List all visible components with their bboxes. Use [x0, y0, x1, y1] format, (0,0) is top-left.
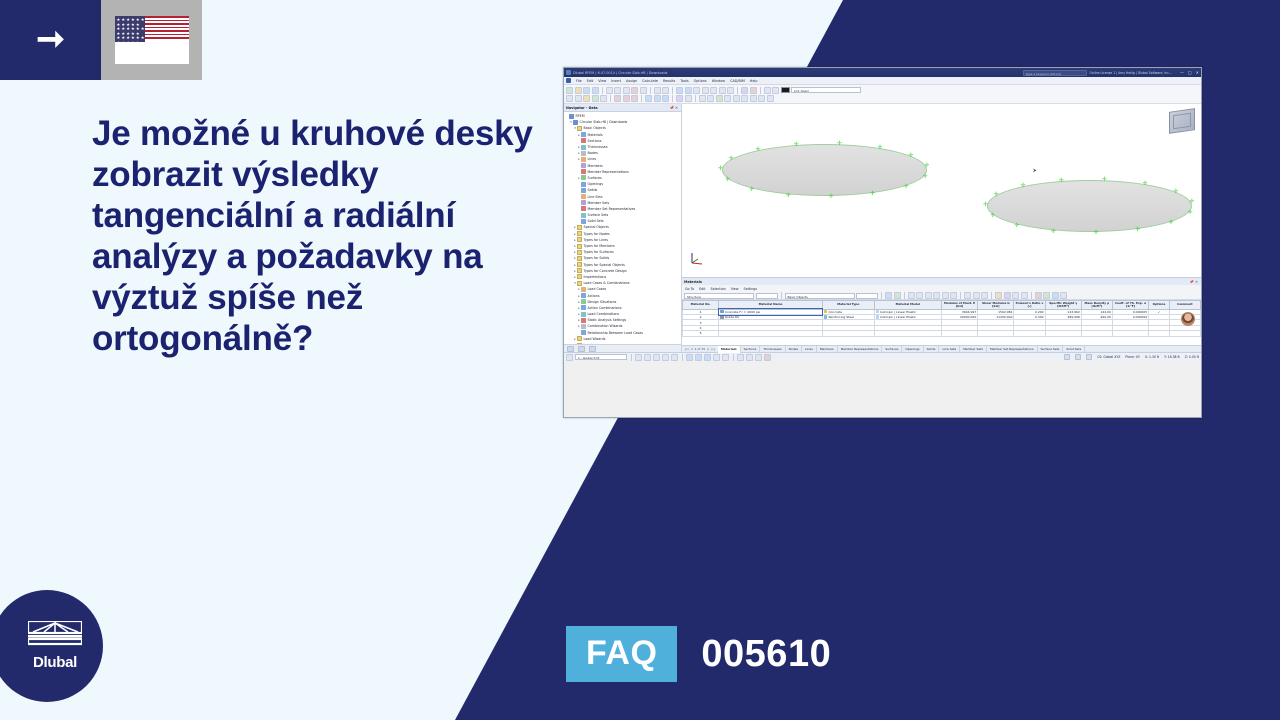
surface-load-icon[interactable]: [662, 95, 669, 102]
menu-item-calculate[interactable]: Calculate: [642, 79, 658, 83]
draw-polyline-icon[interactable]: [764, 354, 771, 361]
materials-column-header[interactable]: Specific Weight γ [lbf/ft³]: [1045, 301, 1081, 310]
tree-item-label: RFEM: [576, 114, 585, 118]
menu-item-cadbim[interactable]: CAD/BIM: [730, 79, 745, 83]
nodal-support-marker[interactable]: [1169, 220, 1174, 225]
materials-cell-comment[interactable]: [1169, 331, 1200, 336]
table-view-icon[interactable]: [908, 292, 915, 299]
nodal-support-marker[interactable]: [994, 192, 999, 197]
nodal-support-marker[interactable]: [1059, 178, 1064, 183]
object-tab-bar[interactable]: |◁ ◁ 1 of 15 ▷ ▷| MaterialsSectionsThick…: [682, 345, 1201, 352]
navigator-title: Navigator - Data: [566, 106, 598, 110]
materials-column-header[interactable]: Mass Density ρ [lb/ft³]: [1081, 301, 1112, 310]
tree-item-label: Types for Nodes: [584, 232, 610, 236]
nodal-support-marker[interactable]: [1021, 183, 1026, 188]
row-insert-icon[interactable]: [916, 292, 923, 299]
navigator-tab-views-icon[interactable]: [589, 346, 596, 352]
nodal-support-marker[interactable]: [1188, 210, 1193, 215]
nodal-support-marker[interactable]: [925, 163, 930, 168]
mp-menu-settings[interactable]: Settings: [744, 287, 758, 291]
tree-item-label: Action Combinations: [588, 306, 622, 310]
cell-text: 144.00: [1100, 310, 1111, 314]
navigator-pin-close-icons[interactable]: 📌✕: [670, 106, 680, 110]
line-load-icon[interactable]: [654, 95, 661, 102]
save-icon[interactable]: [583, 87, 590, 94]
materials-column-header[interactable]: Material No.: [683, 301, 719, 310]
render-mode-icon[interactable]: [685, 87, 692, 94]
tree-item-icon: [581, 330, 586, 335]
nodal-support-marker[interactable]: [870, 191, 875, 196]
navigator-tab-data-icon[interactable]: [567, 346, 574, 352]
filter-index-combo[interactable]: [756, 293, 778, 299]
table-pager[interactable]: |◁ ◁ 1 of 15 ▷ ▷|: [682, 347, 718, 351]
object-tab-nodes[interactable]: Nodes: [786, 346, 802, 353]
tree-item-icon: [577, 268, 582, 273]
status-x-value: X: 1.30 ft: [1145, 355, 1159, 359]
tree-item-label: Members: [588, 164, 603, 168]
tree-item-label: Solids: [588, 188, 598, 192]
minimize-button[interactable]: —: [1180, 70, 1184, 75]
zoom-window-icon[interactable]: [719, 87, 726, 94]
object-tab-materials[interactable]: Materials: [718, 346, 741, 353]
menu-item-options[interactable]: Options: [694, 79, 707, 83]
materials-cell-rho[interactable]: [1081, 331, 1112, 336]
tree-item-icon: [577, 256, 582, 261]
surface-tool-icon[interactable]: [592, 95, 599, 102]
materials-cell-type[interactable]: [822, 331, 874, 336]
materials-column-header[interactable]: Modulus of Elast. E [ksi]: [941, 301, 977, 310]
tree-item-label: Surfaces: [588, 176, 602, 180]
nodal-support-marker[interactable]: [1051, 229, 1056, 234]
print-preview-icon[interactable]: [606, 87, 613, 94]
status-cs-label: CS: Global XYZ: [1097, 355, 1120, 359]
object-tab-member-sets[interactable]: Member Sets: [960, 346, 987, 353]
draw-line-icon[interactable]: [737, 354, 744, 361]
layers-icon[interactable]: [733, 95, 740, 102]
materials-cell-options[interactable]: [1149, 331, 1170, 336]
check-model-icon[interactable]: [716, 95, 723, 102]
object-tab-openings[interactable]: Openings: [902, 346, 923, 353]
nodal-support-marker[interactable]: [837, 141, 842, 146]
view-toggle-3-icon[interactable]: [1086, 354, 1092, 360]
ucs-icon[interactable]: [750, 95, 757, 102]
cell-icon: [876, 310, 880, 314]
menu-item-window[interactable]: Window: [712, 79, 725, 83]
language-header-block: ➞ ★★★★★★★★★★★★★★★★★★★★★★★★★★★★★★★★★★★★★★…: [0, 0, 202, 80]
measure-icon[interactable]: [707, 95, 714, 102]
cell-text: 490.00: [1100, 315, 1111, 319]
materials-column-header[interactable]: Material Model: [874, 301, 941, 310]
cell-text: 11200.000: [996, 315, 1012, 319]
tree-item-label: Openings: [588, 182, 604, 186]
close-button[interactable]: ✕: [1196, 70, 1199, 75]
nodal-load-icon[interactable]: [645, 95, 652, 102]
tree-item-label: Surface Sets: [588, 213, 609, 217]
arrow-down-right-box: ➞: [0, 0, 101, 80]
print-icon[interactable]: [614, 87, 621, 94]
tree-item-icon: [581, 200, 586, 205]
nodal-support-marker[interactable]: [1135, 227, 1140, 232]
materials-column-header[interactable]: Poisson's Ratio ν [-]: [1014, 301, 1045, 310]
object-snap-mid-icon[interactable]: [704, 354, 711, 361]
nodal-support-marker[interactable]: [1174, 189, 1179, 194]
model-canvas[interactable]: ⮞: [682, 104, 1201, 277]
materials-cell-nu[interactable]: [1014, 331, 1045, 336]
materials-panel-pin-close-icons[interactable]: 📌✕: [1190, 280, 1199, 284]
select-all-icon[interactable]: [964, 292, 971, 299]
tree-item-label: Design Situations: [588, 300, 617, 304]
cell-text: 489.998: [1067, 315, 1079, 319]
filter-icon[interactable]: [950, 292, 957, 299]
refresh-icon[interactable]: [894, 292, 901, 299]
row-delete-icon[interactable]: [925, 292, 932, 299]
cell-text: 4: [700, 326, 702, 330]
printout-report-icon[interactable]: [623, 87, 630, 94]
dimension-icon[interactable]: [699, 95, 706, 102]
materials-panel-header: Materials 📌✕: [682, 278, 1201, 285]
cell-text: 0.300: [1035, 315, 1044, 319]
object-index-combo[interactable]: [856, 293, 878, 299]
object-tab-surface-sets[interactable]: Surface Sets: [1038, 346, 1064, 353]
nodal-support-marker[interactable]: [718, 166, 723, 171]
navigator-panel[interactable]: Navigator - Data 📌✕ RFEM▾Circular Slab.r…: [564, 104, 682, 352]
nodal-support-marker[interactable]: [725, 177, 730, 182]
table-row[interactable]: 5: [683, 331, 1201, 336]
nodal-support-marker[interactable]: [983, 202, 988, 207]
object-tab-surfaces[interactable]: Surfaces: [882, 346, 902, 353]
materials-cell-no[interactable]: 5: [683, 331, 719, 336]
select-window-icon[interactable]: [676, 87, 683, 94]
menu-item-file[interactable]: File: [576, 79, 582, 83]
object-tab-solids[interactable]: Solids: [924, 346, 940, 353]
tree-item-icon: [581, 318, 586, 323]
display-props-icon[interactable]: [758, 95, 765, 102]
snap-toggle-icon[interactable]: [635, 354, 642, 361]
wireframe-icon[interactable]: [693, 87, 700, 94]
materials-column-header[interactable]: Material Type: [822, 301, 874, 310]
tree-item-label: Load Combinations: [588, 312, 620, 316]
navigator-tree[interactable]: RFEM▾Circular Slab.rf6 | Downloads▾Basic…: [564, 112, 681, 344]
view-toggle-1-icon[interactable]: [1064, 354, 1070, 360]
mp-menu-selection[interactable]: Selection: [710, 287, 725, 291]
viewport-area[interactable]: ⮞ Materials 📌✕: [682, 104, 1201, 352]
tree-item-label: Types for Concrete Design: [584, 269, 627, 273]
nodal-support-marker[interactable]: [923, 174, 928, 179]
paste-row-icon[interactable]: [981, 292, 988, 299]
polar-toggle-icon[interactable]: [671, 354, 678, 361]
tree-item-label: Types for Lines: [584, 238, 609, 242]
tree-item-label: Actions: [588, 294, 600, 298]
pager-prev-icon[interactable]: ◁: [690, 347, 692, 351]
tree-item-icon: [581, 163, 586, 168]
cell-text: Isotropic | Linear Elastic: [880, 315, 916, 319]
menu-item-assign[interactable]: Assign: [626, 79, 637, 83]
cell-text: Grade 60: [725, 315, 739, 319]
materials-table-body[interactable]: 1Concrete f'c = 4000 psiConcreteIsotropi…: [683, 309, 1201, 336]
cell-icon: [824, 310, 828, 314]
materials-column-header[interactable]: Options: [1149, 301, 1170, 310]
mp-menu-view[interactable]: View: [731, 287, 739, 291]
formula-icon[interactable]: [1004, 292, 1011, 299]
undo-icon[interactable]: [654, 87, 661, 94]
cell-text: 5: [700, 331, 702, 335]
nodal-support-marker[interactable]: [749, 187, 754, 192]
help-table-icon[interactable]: [1060, 292, 1067, 299]
object-tab-member-representations[interactable]: Member Representations: [838, 346, 883, 353]
tree-item-label: Load Cases & Combinations: [584, 281, 630, 285]
nodal-support-marker[interactable]: [904, 184, 909, 189]
grid-icon[interactable]: [741, 95, 748, 102]
object-tab-lines[interactable]: Lines: [802, 346, 817, 353]
status-bar[interactable]: 1 - Global XYZ CS: Global XYZ P: [564, 352, 1201, 361]
menu-item-view[interactable]: View: [598, 79, 606, 83]
color-swatch[interactable]: [781, 87, 790, 93]
object-tab-solid-sets[interactable]: Solid Sets: [1063, 346, 1085, 353]
status-plane-label: Plane: XY: [1125, 355, 1140, 359]
member-tool-icon[interactable]: [583, 95, 590, 102]
nodal-support-marker[interactable]: [786, 193, 791, 198]
cell-text: 1502.082: [998, 310, 1012, 314]
tree-item-icon: [581, 324, 586, 329]
tree-item-label: Special Objects: [584, 225, 609, 229]
mp-menu-edit[interactable]: Edit: [699, 287, 705, 291]
materials-cell-gamma[interactable]: [1045, 331, 1081, 336]
rfem-app-icon: [566, 70, 571, 75]
object-snap-intersect-icon[interactable]: [722, 354, 729, 361]
menu-item-insert[interactable]: Insert: [611, 79, 621, 83]
materials-cell-G[interactable]: [978, 331, 1014, 336]
menu-item-results[interactable]: Results: [663, 79, 675, 83]
materials-panel[interactable]: Materials 📌✕ Go To Edit Selection View S…: [682, 277, 1201, 345]
cell-text: Isotropic | Linear Elastic: [880, 310, 916, 314]
calculate-icon[interactable]: [741, 87, 748, 94]
nodal-support-marker[interactable]: [794, 142, 799, 147]
materials-column-header[interactable]: Shear Modulus G [ksi]: [978, 301, 1014, 310]
tree-item-icon: [581, 182, 586, 187]
navigator-tab-display-icon[interactable]: [578, 346, 585, 352]
cell-icon: [720, 310, 724, 314]
results-icon[interactable]: [750, 87, 757, 94]
status-bar-right: CS: Global XYZ Plane: XY X: 1.30 ft Y: 1…: [1064, 354, 1199, 360]
object-tab-thicknesses[interactable]: Thicknesses: [760, 346, 785, 353]
materials-column-header[interactable]: Comment: [1169, 301, 1200, 310]
basic-objects-combo[interactable]: Basic Objects: [785, 293, 855, 299]
tree-item-label: Circular Slab.rf6 | Downloads: [580, 120, 628, 124]
open-file-icon[interactable]: [575, 87, 582, 94]
cell-text: 0.000005: [1133, 310, 1147, 314]
load-case-prev-icon[interactable]: [764, 87, 771, 94]
menu-item-edit[interactable]: Edit: [587, 79, 594, 83]
pager-next-icon[interactable]: ▷: [707, 347, 709, 351]
materials-cell-E[interactable]: [941, 331, 977, 336]
maximize-button[interactable]: □: [1188, 70, 1192, 75]
tree-item-icon: [581, 151, 586, 156]
object-snap-node-icon[interactable]: [686, 354, 693, 361]
nodal-support-icon[interactable]: [614, 95, 621, 102]
copy-icon[interactable]: [640, 87, 647, 94]
navigator-footer[interactable]: [564, 344, 681, 352]
toolbar-area[interactable]: LC1 Dead: [564, 85, 1201, 104]
object-tabs[interactable]: MaterialsSectionsThicknessesNodesLinesMe…: [718, 346, 1085, 353]
surface-support-icon[interactable]: [631, 95, 638, 102]
grid-toggle-icon[interactable]: [644, 354, 651, 361]
tree-item-icon: [581, 206, 586, 211]
nodal-support-marker[interactable]: [756, 147, 761, 152]
tree-item-icon: [577, 274, 582, 279]
tree-item-icon: [581, 287, 586, 292]
titlebar-right: Type a keyword (Alt+Q) Online License 1 …: [1023, 70, 1200, 76]
status-y-value: Y: 16.38 ft: [1164, 355, 1180, 359]
mp-menu-goto[interactable]: Go To: [685, 287, 694, 291]
toolbar-row-1[interactable]: LC1 Dead: [566, 86, 1199, 94]
mouse-cursor-icon: ⮞: [1033, 168, 1037, 174]
materials-column-header[interactable]: Coeff. of Th. Exp. α [1/°F]: [1112, 301, 1148, 310]
line-support-icon[interactable]: [623, 95, 630, 102]
menu-item-help[interactable]: Help: [750, 79, 758, 83]
export-icon[interactable]: [631, 87, 638, 94]
window-controls[interactable]: — □ ✕: [1180, 70, 1199, 75]
tree-item-label: Lines: [588, 157, 597, 161]
cell-text: Concrete f'c = 4000 psi: [725, 310, 760, 314]
tree-item-label: Types for Special Objects: [584, 263, 625, 267]
units-icon[interactable]: [1012, 292, 1019, 299]
cell-text: 0.000006: [1133, 315, 1147, 319]
export-table-icon[interactable]: [995, 292, 1002, 299]
us-flag-icon: ★★★★★★★★★★★★★★★★★★★★★★★★★★★★★★★★★★★★★★★: [115, 16, 189, 64]
cell-text: ✓: [1158, 310, 1161, 314]
dlubal-logo-text: Dlubal: [33, 654, 77, 671]
tree-item-icon: [581, 188, 586, 193]
tree-item-icon: [577, 237, 582, 242]
flag-box: ★★★★★★★★★★★★★★★★★★★★★★★★★★★★★★★★★★★★★★★: [101, 0, 202, 80]
load-case-combo[interactable]: LC1 Dead: [791, 87, 861, 93]
new-file-icon[interactable]: [566, 87, 573, 94]
cell-text: 29000.000: [960, 315, 976, 319]
find-icon[interactable]: [885, 292, 892, 299]
tree-item-icon: [577, 281, 582, 286]
object-tab-member-set-representations[interactable]: Member Set Representations: [987, 346, 1038, 353]
redo-icon[interactable]: [662, 87, 669, 94]
object-snap-center-icon[interactable]: [713, 354, 720, 361]
materials-cell-name[interactable]: [719, 331, 823, 336]
tree-item-icon: [581, 219, 586, 224]
tree-item-icon: [577, 336, 582, 341]
nodal-support-marker[interactable]: [990, 213, 995, 218]
object-tab-line-sets[interactable]: Line Sets: [939, 346, 960, 353]
draw-circle-icon[interactable]: [755, 354, 762, 361]
object-snap-line-icon[interactable]: [695, 354, 702, 361]
mesh-icon[interactable]: [676, 95, 683, 102]
load-case-next-icon[interactable]: [772, 87, 779, 94]
material-settings-icon[interactable]: [1052, 292, 1059, 299]
view-toggle-2-icon[interactable]: [1075, 354, 1081, 360]
line-tool-icon[interactable]: [575, 95, 582, 102]
osnap-toggle-icon[interactable]: [662, 354, 669, 361]
toolbar-row-2[interactable]: [566, 94, 1199, 102]
tree-item-icon: [581, 175, 586, 180]
solid-tool-icon[interactable]: [600, 95, 607, 102]
materials-column-header[interactable]: Material Name: [719, 301, 823, 310]
materials-table[interactable]: Material No.Material NameMaterial TypeMa…: [682, 300, 1201, 337]
materials-cell-alpha[interactable]: [1112, 331, 1148, 336]
nodal-support-marker[interactable]: [878, 145, 883, 150]
tree-item-icon: [581, 213, 586, 218]
tree-item-icon: [581, 305, 586, 310]
materials-panel-toolbar[interactable]: Structure Basic Objects: [682, 292, 1201, 300]
faq-badge: FAQ: [566, 626, 677, 682]
menu-item-tools[interactable]: Tools: [680, 79, 688, 83]
zoom-all-icon[interactable]: [710, 87, 717, 94]
statusbar-ucs-icon[interactable]: [566, 354, 573, 361]
nodal-support-marker[interactable]: [1102, 177, 1107, 182]
copy-row-icon[interactable]: [973, 292, 980, 299]
nodal-support-marker[interactable]: [1014, 223, 1019, 228]
new-material-icon[interactable]: [1043, 292, 1050, 299]
snap-icon[interactable]: [685, 95, 692, 102]
ortho-toggle-icon[interactable]: [653, 354, 660, 361]
decimals-icon[interactable]: [1021, 292, 1028, 299]
draw-arc-icon[interactable]: [746, 354, 753, 361]
coordinate-system-combo[interactable]: 1 - Global XYZ: [575, 354, 627, 360]
node-tool-icon[interactable]: [566, 95, 573, 102]
tree-item-icon: [569, 114, 574, 119]
tree-item-label: Sections: [588, 139, 602, 143]
save-as-icon[interactable]: [592, 87, 599, 94]
nodal-support-marker[interactable]: [1094, 230, 1099, 235]
tree-item-icon: [577, 244, 582, 249]
structure-filter-combo[interactable]: Structure: [684, 293, 754, 299]
visibility-icon[interactable]: [724, 95, 731, 102]
tree-item-label: Solid Sets: [588, 219, 604, 223]
object-tab-members[interactable]: Members: [817, 346, 838, 353]
more-tools-icon[interactable]: [767, 95, 774, 102]
license-label[interactable]: Online License 1 | Amy Heilig | Dlubal S…: [1090, 71, 1172, 75]
sort-icon[interactable]: [942, 292, 949, 299]
cell-text: 1: [700, 310, 702, 314]
keyword-search-input[interactable]: Type a keyword (Alt+Q): [1023, 70, 1087, 76]
view-cube-icon[interactable]: [1169, 108, 1195, 134]
rfem-application-window[interactable]: Dlubal RFEM | 6.07.0014 | Circular Slab.…: [563, 67, 1202, 418]
tree-item-icon: [581, 169, 586, 174]
rotate-icon[interactable]: [727, 87, 734, 94]
materials-table-container[interactable]: Material No.Material NameMaterial TypeMa…: [682, 300, 1201, 345]
materials-panel-menu[interactable]: Go To Edit Selection View Settings: [682, 285, 1201, 292]
nodal-support-marker[interactable]: [1143, 181, 1148, 186]
pager-last-icon[interactable]: ▷|: [711, 347, 714, 351]
library-icon[interactable]: [1035, 292, 1042, 299]
pager-first-icon[interactable]: |◁: [685, 347, 688, 351]
column-settings-icon[interactable]: [933, 292, 940, 299]
object-tab-sections[interactable]: Sections: [741, 346, 761, 353]
tree-item-icon: [581, 145, 586, 150]
tree-item-label: Thicknesses: [588, 145, 608, 149]
solid-view-icon[interactable]: [702, 87, 709, 94]
nodal-support-marker[interactable]: [729, 156, 734, 161]
nodal-support-marker[interactable]: [829, 194, 834, 199]
materials-panel-title: Materials: [684, 280, 702, 284]
materials-cell-model[interactable]: [874, 331, 941, 336]
main-body: Navigator - Data 📌✕ RFEM▾Circular Slab.r…: [564, 104, 1201, 352]
menu-bar[interactable]: File Edit View Insert Assign Calculate R…: [564, 77, 1201, 85]
nodal-support-marker[interactable]: [909, 153, 914, 158]
nodal-support-marker[interactable]: [1190, 199, 1195, 204]
tree-item-label: Basic Objects: [584, 126, 606, 130]
tree-item-label: Materials: [588, 133, 603, 137]
tree-item-icon: [581, 157, 586, 162]
title-bar: Dlubal RFEM | 6.07.0014 | Circular Slab.…: [564, 68, 1201, 77]
user-avatar[interactable]: [1181, 312, 1195, 326]
tree-item-label: Relationship Between Load Cases: [588, 331, 644, 335]
